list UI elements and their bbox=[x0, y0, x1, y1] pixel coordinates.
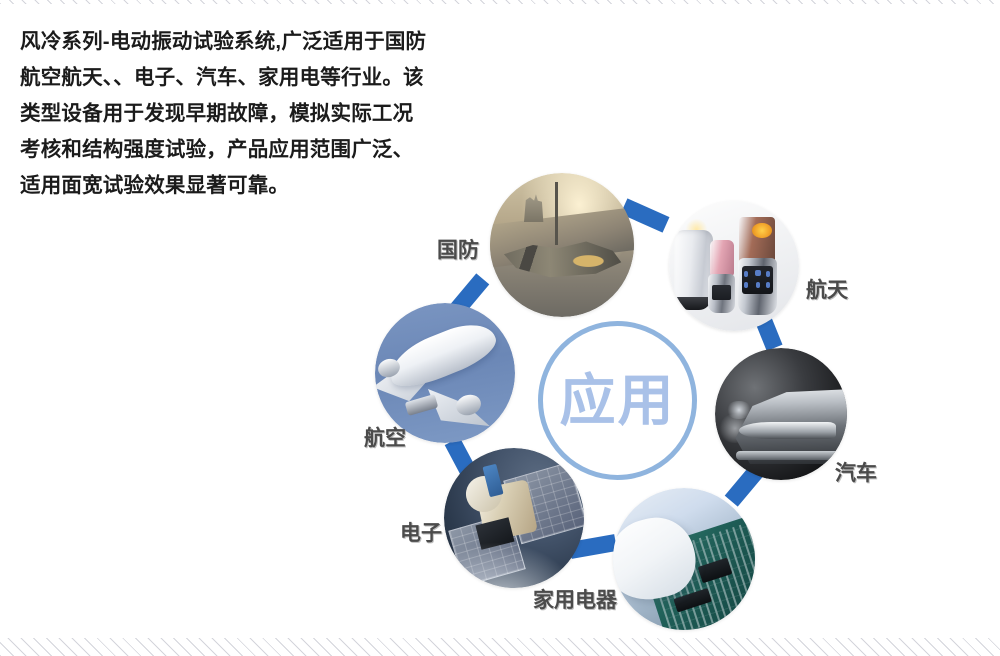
fighter-jet-on-aircraft-carrier-photo bbox=[490, 173, 634, 317]
node-circle-aviation[interactable] bbox=[375, 303, 515, 443]
node-label-aerospace: 航天 bbox=[806, 280, 848, 301]
application-hub-diagram: 应用 国防 航天 bbox=[0, 0, 1000, 656]
node-label-electro: 电子 bbox=[400, 523, 442, 544]
node-circle-appliance[interactable] bbox=[613, 488, 755, 630]
node-circle-defense[interactable] bbox=[490, 173, 634, 317]
car-front-dark-photo bbox=[715, 348, 847, 480]
node-label-aviation: 航空 bbox=[364, 428, 406, 449]
satellite-in-space-photo bbox=[444, 448, 584, 588]
gloved-hand-holding-circuit-board-photo bbox=[613, 488, 755, 630]
application-diagram-banner: 风冷系列-电动振动试验系统,广泛适用于国防航空航天、、电子、汽车、家用电等行业。… bbox=[0, 0, 1000, 656]
airliner-in-blue-sky-photo bbox=[375, 303, 515, 443]
node-label-auto: 汽车 bbox=[835, 463, 877, 484]
hub-circle-application: 应用 bbox=[538, 321, 697, 480]
node-label-appliance: 家用电器 bbox=[533, 590, 617, 611]
node-circle-auto[interactable] bbox=[715, 348, 847, 480]
node-circle-aerospace[interactable] bbox=[669, 201, 799, 331]
kitchen-blender-appliances-photo bbox=[669, 201, 799, 331]
node-label-defense: 国防 bbox=[437, 240, 479, 261]
node-circle-electro[interactable] bbox=[444, 448, 584, 588]
hub-label: 应用 bbox=[560, 373, 676, 429]
